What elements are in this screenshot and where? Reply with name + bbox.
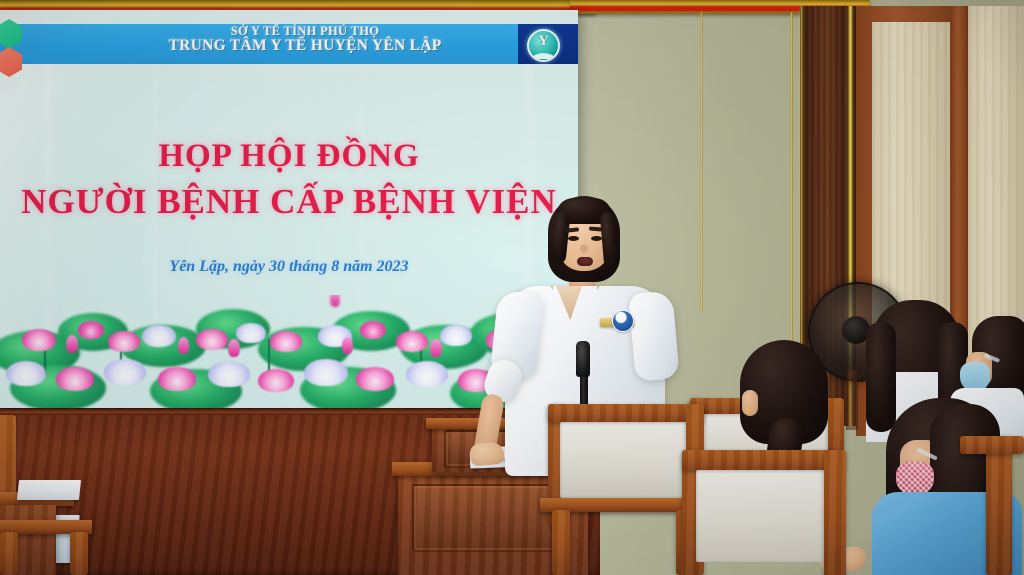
speaker-eye (568, 236, 579, 241)
slide-subtitle: Yên Lập, ngày 30 tháng 8 năm 2023 (0, 258, 578, 276)
speaker-hand (469, 442, 504, 466)
chair-backrest-top (548, 404, 704, 422)
chair-post (986, 436, 1012, 575)
health-department-logo-icon: Y (527, 29, 560, 62)
chair-post (824, 450, 846, 575)
attendee-ear (742, 390, 758, 416)
wall-gold-strip (700, 12, 703, 312)
chair-leg (70, 532, 88, 575)
speaker-mouth (577, 257, 593, 266)
speaker-nose (580, 244, 588, 253)
chair-leg (0, 532, 18, 575)
conference-photo: SỞ Y TẾ TỈNH PHÚ THỌ TRUNG TÂM Y TẾ HUYỆ… (0, 0, 1024, 575)
chair-cushion (696, 470, 836, 562)
chair-cushion (560, 422, 694, 498)
slide-title-line2: NGƯỜI BỆNH CẤP BỆNH VIỆN (0, 182, 578, 222)
microphone-head (576, 341, 590, 377)
chair-backrest-top (960, 436, 1024, 454)
chair-backrest-top (682, 450, 844, 470)
speaker-sleeve-right (628, 290, 680, 382)
attendee-earring (745, 408, 750, 413)
slide-title-line1: HỌP HỘI ĐỒNG (0, 138, 578, 175)
speaker-emblem-patch (612, 310, 634, 332)
wall-gold-strip (790, 12, 793, 342)
attendee-hair-strand (866, 322, 896, 432)
left-table-papers (17, 480, 81, 500)
slide-header-text: SỞ Y TẾ TỈNH PHÚ THỌ TRUNG TÂM Y TẾ HUYỆ… (95, 25, 515, 54)
chair-leg (552, 510, 570, 575)
podium-panel (412, 484, 566, 552)
logo-wave-shape (527, 50, 560, 59)
slide-header-line2: TRUNG TÂM Y TẾ HUYỆN YÊN LẬP (95, 38, 515, 54)
logo-letter: Y (529, 33, 558, 50)
speaker-eye (591, 236, 602, 241)
attendee-pink-mask (896, 462, 934, 496)
fan-pole (846, 370, 858, 430)
